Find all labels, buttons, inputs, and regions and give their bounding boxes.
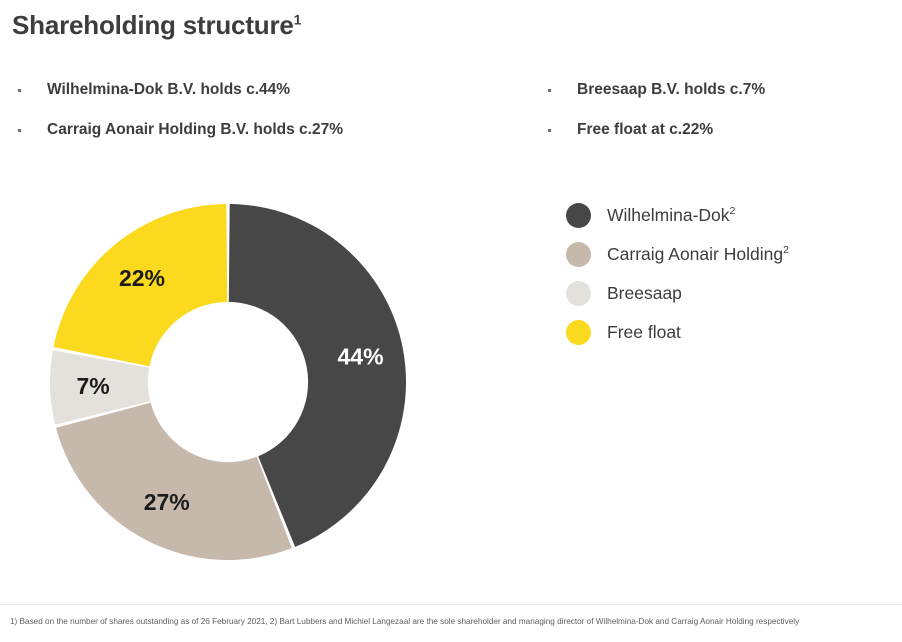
- bullet-dot-icon: [548, 129, 551, 132]
- bullet-list-left: Wilhelmina-Dok B.V. holds c.44%Carraig A…: [18, 80, 538, 160]
- legend-label: Free float: [607, 322, 681, 343]
- donut-slice-label: 22%: [119, 265, 165, 291]
- bullet-item: Wilhelmina-Dok B.V. holds c.44%: [18, 80, 538, 102]
- legend-label-text: Breesaap: [607, 283, 682, 303]
- legend-label-text: Wilhelmina-Dok: [607, 205, 730, 225]
- donut-svg: 44%27%7%22%: [48, 202, 408, 562]
- legend-label-superscript: 2: [783, 244, 789, 256]
- legend-swatch-icon: [566, 320, 591, 345]
- legend-label-text: Carraig Aonair Holding: [607, 244, 783, 264]
- legend-label: Carraig Aonair Holding2: [607, 244, 789, 265]
- bullet-text: Free float at c.22%: [577, 120, 713, 140]
- donut-slice-label: 44%: [338, 344, 384, 370]
- legend-item[interactable]: Free float: [566, 313, 886, 352]
- shareholding-donut-chart: 44%27%7%22%: [48, 202, 408, 562]
- bullet-text: Carraig Aonair Holding B.V. holds c.27%: [47, 120, 343, 140]
- legend-swatch-icon: [566, 203, 591, 228]
- bullet-text: Breesaap B.V. holds c.7%: [577, 80, 765, 100]
- legend-item[interactable]: Breesaap: [566, 274, 886, 313]
- donut-slice-label: 7%: [77, 373, 110, 399]
- bullet-dot-icon: [18, 89, 21, 92]
- legend-label-superscript: 2: [730, 205, 736, 217]
- bullet-list-right: Breesaap B.V. holds c.7%Free float at c.…: [548, 80, 888, 160]
- bullet-dot-icon: [18, 129, 21, 132]
- page-title: Shareholding structure1: [12, 10, 301, 41]
- legend-item[interactable]: Carraig Aonair Holding2: [566, 235, 886, 274]
- footnote-divider: [0, 604, 902, 605]
- bullet-item: Breesaap B.V. holds c.7%: [548, 80, 888, 102]
- bullet-item: Free float at c.22%: [548, 120, 888, 142]
- legend-label: Breesaap: [607, 283, 682, 304]
- legend-label: Wilhelmina-Dok2: [607, 205, 735, 226]
- donut-slice-label: 27%: [144, 489, 190, 515]
- donut-slice[interactable]: [56, 403, 292, 560]
- bullet-item: Carraig Aonair Holding B.V. holds c.27%: [18, 120, 538, 142]
- legend-item[interactable]: Wilhelmina-Dok2: [566, 196, 886, 235]
- legend-swatch-icon: [566, 242, 591, 267]
- bullet-text: Wilhelmina-Dok B.V. holds c.44%: [47, 80, 290, 100]
- chart-legend: Wilhelmina-Dok2Carraig Aonair Holding2Br…: [566, 196, 886, 352]
- page-title-superscript: 1: [294, 11, 302, 27]
- bullet-dot-icon: [548, 89, 551, 92]
- footnote: 1) Based on the number of shares outstan…: [10, 616, 898, 627]
- legend-label-text: Free float: [607, 322, 681, 342]
- page-title-text: Shareholding structure: [12, 10, 294, 40]
- legend-swatch-icon: [566, 281, 591, 306]
